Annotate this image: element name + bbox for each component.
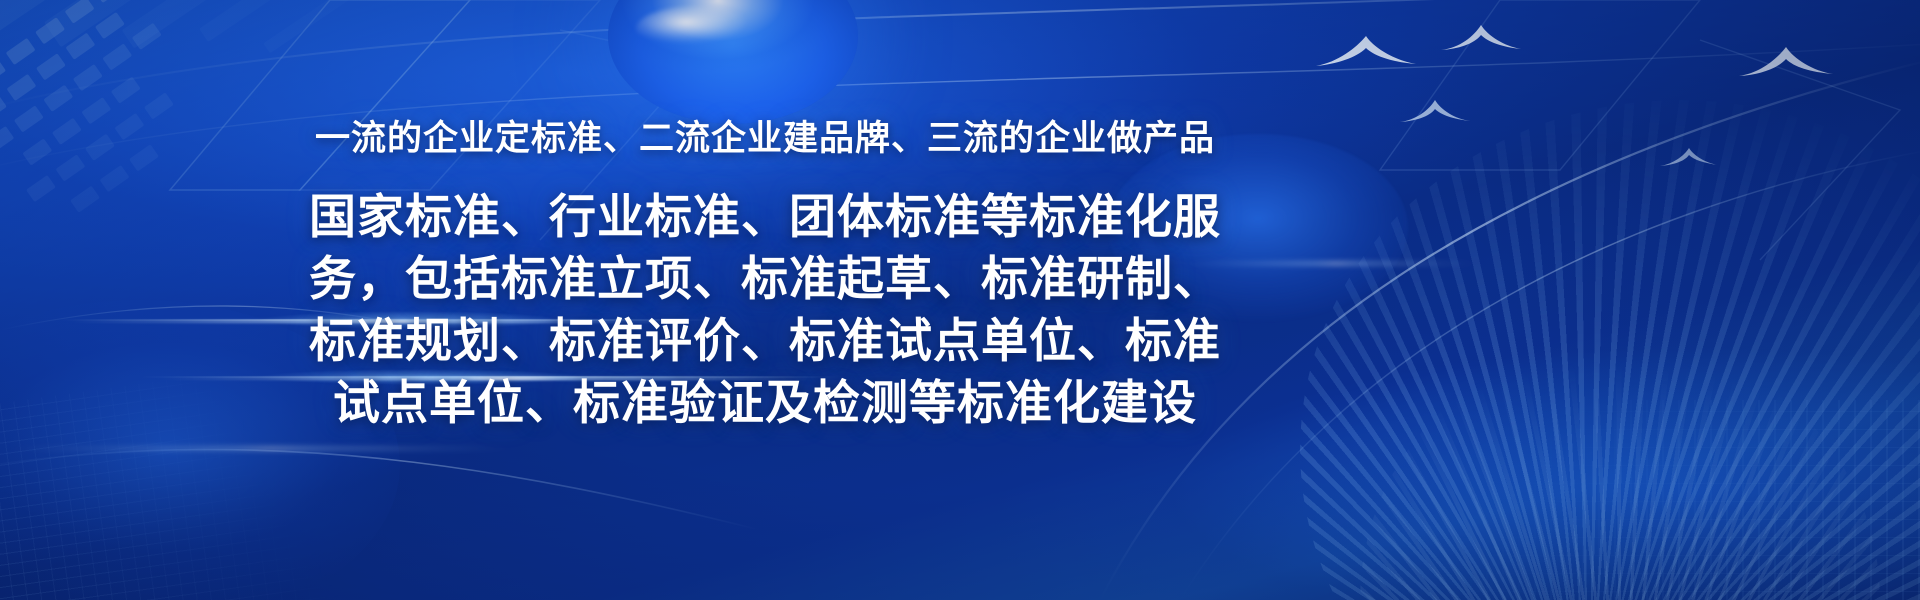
banner-body-text: 国家标准、行业标准、团体标准等标准化服 务，包括标准立项、标准起草、标准研制、 …: [250, 186, 1280, 434]
bird-silhouette-icon: [1736, 44, 1836, 88]
banner-content: 一流的企业定标准、二流企业建品牌、三流的企业做产品 国家标准、行业标准、团体标准…: [0, 0, 1530, 600]
banner-body-line: 标准规划、标准评价、标准试点单位、标准: [250, 310, 1280, 372]
bird-silhouette-icon: [1658, 146, 1720, 174]
banner-headline: 一流的企业定标准、二流企业建品牌、三流的企业做产品: [315, 118, 1215, 160]
hero-banner: 一流的企业定标准、二流企业建品牌、三流的企业做产品 国家标准、行业标准、团体标准…: [0, 0, 1920, 600]
banner-body-line: 务，包括标准立项、标准起草、标准研制、: [250, 248, 1280, 310]
banner-body-line: 试点单位、标准验证及检测等标准化建设: [250, 372, 1280, 434]
banner-body-line: 国家标准、行业标准、团体标准等标准化服: [250, 186, 1280, 248]
